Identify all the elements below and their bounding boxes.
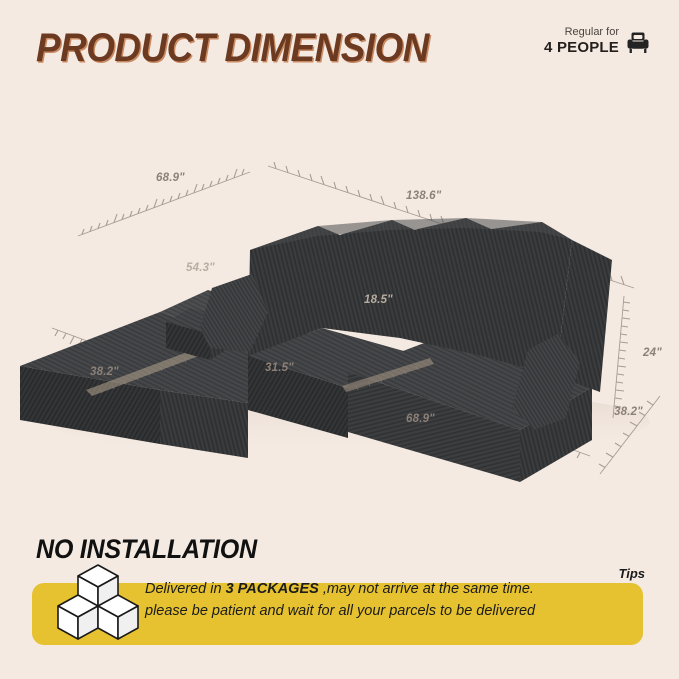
- packages-boxes-icon: [44, 556, 152, 648]
- sofa-dimension-diagram: 68.9" 138.6" 54.3" 18.5" 38.2" 31.5" 38.…: [0, 100, 679, 510]
- dim-label-seat-height: 18.5": [364, 294, 393, 306]
- dim-label-armless-width: 31.5": [265, 362, 294, 374]
- tips-line1-strong: 3 PACKAGES: [226, 581, 319, 597]
- tips-line1-post: ,may not arrive at the same time.: [319, 581, 534, 597]
- tips-banner-line-1: Delivered in 3 PACKAGES ,may not arrive …: [145, 578, 635, 600]
- dim-label-chaise-width: 68.9": [156, 172, 185, 184]
- ruler-sofa-height: [613, 296, 630, 418]
- capacity-badge-subtitle: Regular for: [565, 26, 619, 39]
- tips-line1-pre: Delivered in: [145, 581, 226, 597]
- header: PRODUCT DIMENSION Regular for 4 PEOPLE: [0, 0, 679, 100]
- armchair-icon: [625, 30, 651, 56]
- page-title: PRODUCT DIMENSION: [36, 26, 429, 71]
- dim-label-sofa-depth-right: 38.2": [614, 406, 643, 418]
- dim-label-sofa-height: 24": [643, 347, 662, 359]
- dim-label-overall-length: 138.6": [406, 190, 441, 202]
- tips-banner-text: Delivered in 3 PACKAGES ,may not arrive …: [145, 578, 635, 623]
- dim-label-chaise-depth: 38.2": [90, 366, 119, 378]
- tips-banner-line-2: please be patient and wait for all your …: [145, 600, 635, 622]
- capacity-badge: Regular for 4 PEOPLE: [544, 26, 651, 56]
- dim-label-sofa-length-bottom: 68.9": [406, 413, 435, 425]
- capacity-badge-value: 4 PEOPLE: [544, 39, 619, 56]
- dim-label-chaise-seat-depth: 54.3": [186, 262, 215, 274]
- capacity-badge-texts: Regular for 4 PEOPLE: [544, 26, 619, 56]
- sofa-illustration: [0, 100, 679, 510]
